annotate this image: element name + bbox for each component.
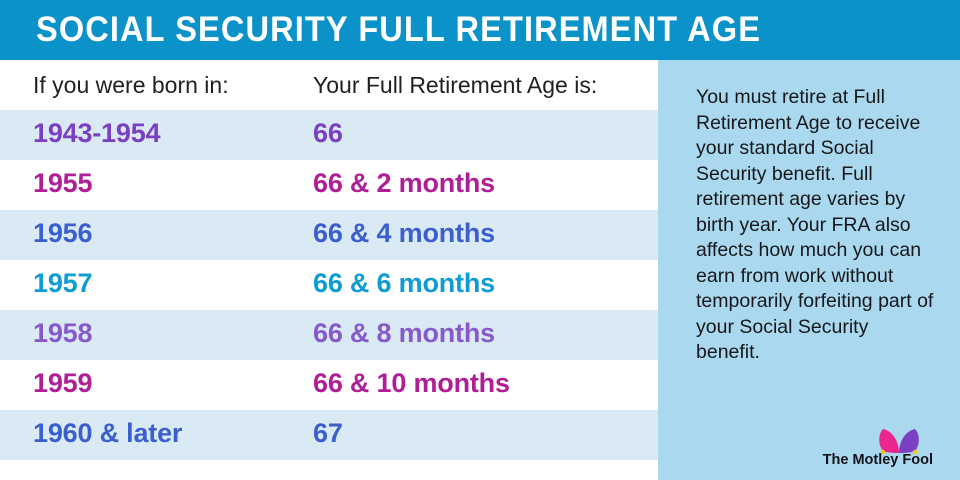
retirement-age-table: If you were born in: Your Full Retiremen… — [0, 60, 658, 480]
table-row: 195766 & 6 months — [0, 260, 658, 310]
table-row: 1960 & later67 — [0, 410, 658, 460]
cell-retirement-age: 66 & 10 months — [313, 368, 510, 399]
table-row: 1943-195466 — [0, 110, 658, 160]
cell-birth-year: 1958 — [33, 318, 92, 349]
cell-retirement-age: 66 & 6 months — [313, 268, 495, 299]
logo-wordmark: The Motley Fool — [823, 452, 933, 468]
cell-retirement-age: 66 & 8 months — [313, 318, 495, 349]
motley-fool-logo: The Motley Fool — [745, 424, 945, 470]
cell-retirement-age: 66 & 2 months — [313, 168, 495, 199]
cell-birth-year: 1955 — [33, 168, 92, 199]
page-title: SOCIAL SECURITY FULL RETIREMENT AGE — [36, 9, 761, 51]
cell-retirement-age: 66 — [313, 118, 343, 149]
cell-retirement-age: 66 & 4 months — [313, 218, 495, 249]
cell-birth-year: 1960 & later — [33, 418, 182, 449]
cell-retirement-age: 67 — [313, 418, 343, 449]
table-row: 195566 & 2 months — [0, 160, 658, 210]
sidebar-paragraph: You must retire at Full Retirement Age t… — [696, 85, 936, 366]
table-row: 195966 & 10 months — [0, 360, 658, 410]
header-bar: SOCIAL SECURITY FULL RETIREMENT AGE — [0, 0, 960, 60]
table-row: 195866 & 8 months — [0, 310, 658, 360]
column-header-retirement-age: Your Full Retirement Age is: — [313, 72, 597, 99]
table-header-row: If you were born in: Your Full Retiremen… — [0, 60, 658, 110]
cell-birth-year: 1943-1954 — [33, 118, 160, 149]
table-row: 195666 & 4 months — [0, 210, 658, 260]
cell-birth-year: 1956 — [33, 218, 92, 249]
infographic-canvas: SOCIAL SECURITY FULL RETIREMENT AGE If y… — [0, 0, 960, 480]
cell-birth-year: 1957 — [33, 268, 92, 299]
jester-hat-icon — [877, 428, 921, 454]
sidebar-note-panel: You must retire at Full Retirement Age t… — [658, 60, 960, 480]
column-header-birth-year: If you were born in: — [33, 72, 229, 99]
cell-birth-year: 1959 — [33, 368, 92, 399]
